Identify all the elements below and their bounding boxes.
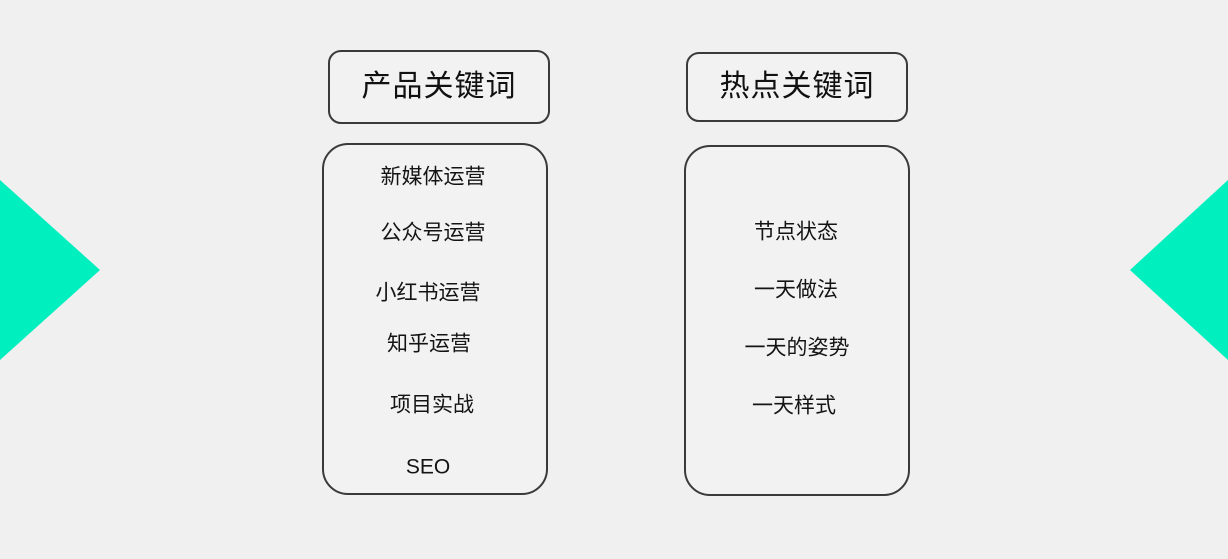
list-item[interactable]: 公众号运营 — [381, 223, 486, 244]
header-card-hot[interactable]: 热点关键词 — [686, 52, 908, 122]
list-item[interactable]: 新媒体运营 — [381, 167, 486, 188]
list-item[interactable]: 知乎运营 — [387, 334, 471, 355]
list-item[interactable]: 一天的姿势 — [745, 338, 850, 359]
header-card-product[interactable]: 产品关键词 — [328, 50, 550, 124]
list-item[interactable]: 项目实战 — [390, 395, 474, 416]
slide-canvas: 产品关键词 热点关键词 新媒体运营公众号运营小红书运营知乎运营项目实战SEO节点… — [0, 0, 1228, 559]
header-label-product: 产品关键词 — [362, 72, 517, 102]
list-item[interactable]: 节点状态 — [754, 222, 838, 243]
list-card-product[interactable] — [322, 143, 548, 495]
list-item[interactable]: 一天做法 — [754, 280, 838, 301]
list-card-hot[interactable] — [684, 145, 910, 496]
list-item[interactable]: SEO — [406, 457, 450, 478]
triangle-left-icon — [1130, 180, 1228, 360]
header-label-hot: 热点关键词 — [720, 72, 875, 102]
triangle-right-icon — [0, 180, 100, 360]
list-item[interactable]: 小红书运营 — [376, 283, 481, 304]
list-item[interactable]: 一天样式 — [752, 396, 836, 417]
